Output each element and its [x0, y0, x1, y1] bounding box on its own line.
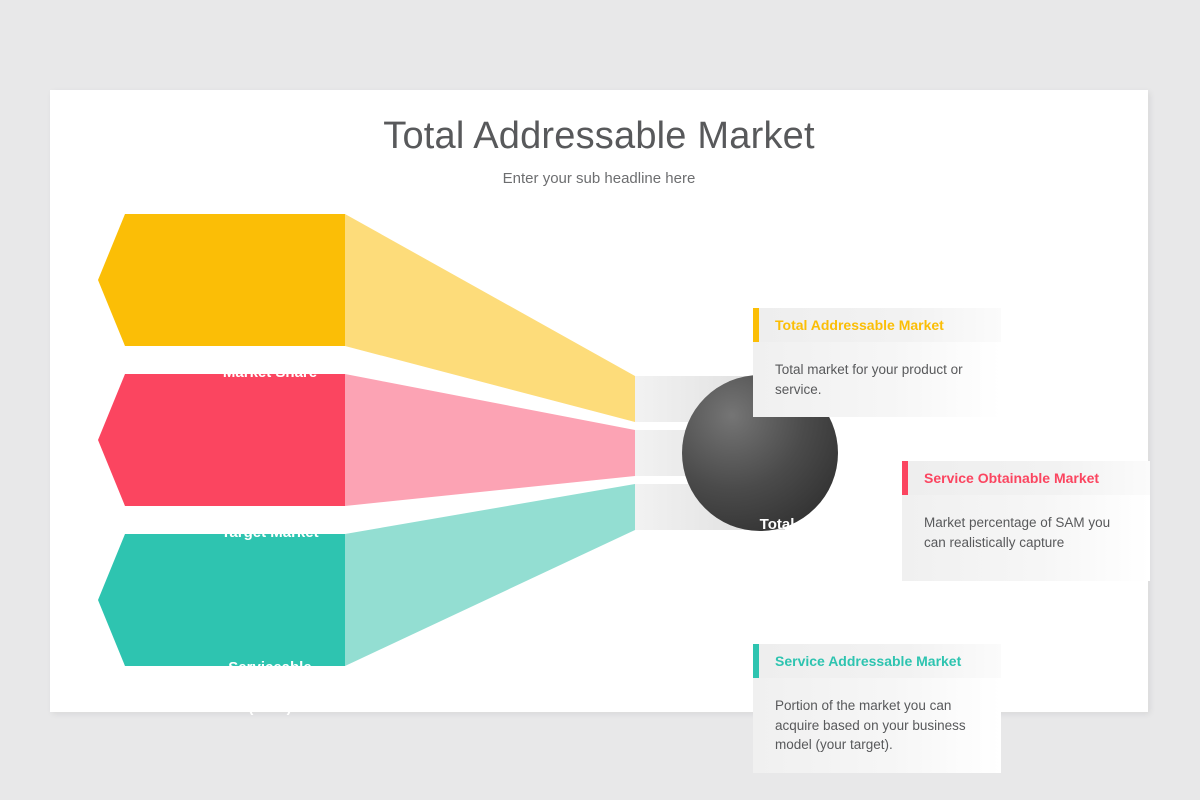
accent-bar-teal — [753, 644, 759, 678]
info-body-service-addressable-market: Portion of the market you can acquire ba… — [753, 678, 1001, 773]
info-heading-total-addressable-market: Total Addressable Market — [753, 317, 944, 333]
info-header-service-obtainable-market: Service Obtainable Market — [902, 461, 1150, 495]
info-heading-service-addressable-market: Service Addressable Market — [753, 653, 961, 669]
funnel-arrow-sam — [98, 534, 345, 666]
info-block-total-addressable-market: Total Addressable Market Total market fo… — [753, 308, 1001, 417]
funnel-arrow-market-share — [98, 214, 345, 346]
info-body-total-addressable-market: Total market for your product or service… — [753, 342, 1001, 417]
slide-canvas: Total Addressable Market Enter your sub … — [50, 90, 1148, 712]
info-header-total-addressable-market: Total Addressable Market — [753, 308, 1001, 342]
accent-bar-yellow — [753, 308, 759, 342]
funnel-tail-sam — [345, 484, 635, 666]
accent-bar-red — [902, 461, 908, 495]
funnel-arrow-target-market — [98, 374, 345, 506]
info-block-service-obtainable-market: Service Obtainable Market Market percent… — [902, 461, 1150, 581]
info-body-service-obtainable-market: Market percentage of SAM you can realist… — [902, 495, 1150, 581]
info-header-service-addressable-market: Service Addressable Market — [753, 644, 1001, 678]
info-heading-service-obtainable-market: Service Obtainable Market — [902, 470, 1099, 486]
info-block-service-addressable-market: Service Addressable Market Portion of th… — [753, 644, 1001, 773]
